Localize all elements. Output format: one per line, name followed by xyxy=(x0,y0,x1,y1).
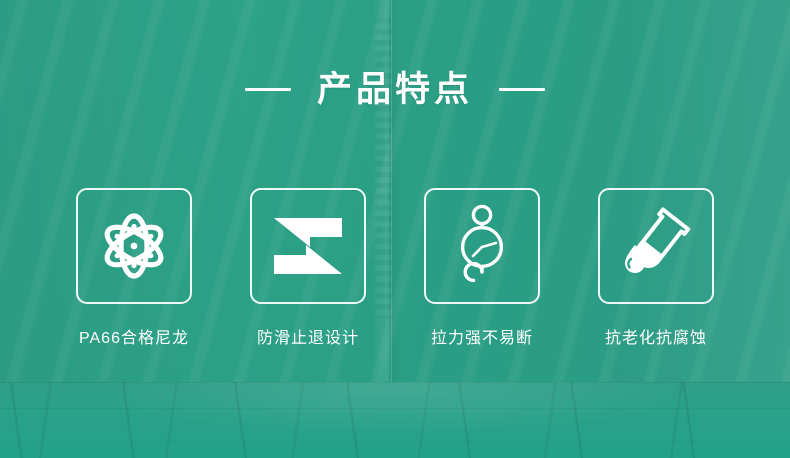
feature-caption: 抗老化抗腐蚀 xyxy=(605,331,707,347)
feature-list: PA66合格尼龙 防滑止退设计 xyxy=(75,188,715,347)
feature-item-anti-slip[interactable]: 防滑止退设计 xyxy=(249,188,367,347)
section-heading: 产品特点 xyxy=(0,72,790,107)
feature-icon-card[interactable] xyxy=(76,188,192,304)
heading-rule-left xyxy=(245,88,291,91)
test-tube-drop-icon xyxy=(617,207,695,285)
product-features-banner: 产品特点 xyxy=(0,0,790,458)
spring-scale-icon xyxy=(451,203,513,289)
feature-icon-card[interactable] xyxy=(424,188,540,304)
heading-rule-right xyxy=(499,88,545,91)
feature-item-pa66-nylon[interactable]: PA66合格尼龙 xyxy=(75,188,193,347)
feature-caption: PA66合格尼龙 xyxy=(79,331,189,347)
feature-item-high-tensile[interactable]: 拉力强不易断 xyxy=(423,188,541,347)
zigzag-anti-slip-icon xyxy=(271,215,345,277)
feature-caption: 防滑止退设计 xyxy=(257,331,359,347)
page-title: 产品特点 xyxy=(317,72,473,107)
feature-icon-card[interactable] xyxy=(250,188,366,304)
feature-item-anti-aging[interactable]: 抗老化抗腐蚀 xyxy=(597,188,715,347)
feature-icon-card[interactable] xyxy=(598,188,714,304)
floor-glow xyxy=(0,382,790,458)
feature-caption: 拉力强不易断 xyxy=(431,331,533,347)
atom-icon xyxy=(97,209,171,283)
tiled-floor xyxy=(0,382,790,458)
